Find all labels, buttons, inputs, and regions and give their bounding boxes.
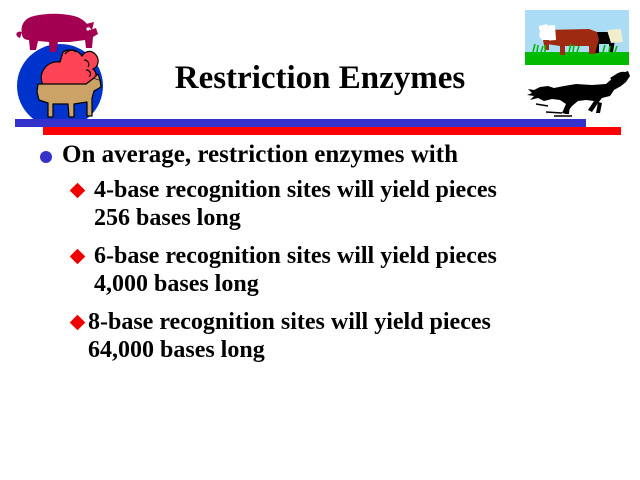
page-title: Restriction Enzymes	[130, 60, 510, 96]
bullet-text-line2: 64,000 bases long	[88, 336, 640, 364]
presentation-slide: Restriction Enzymes	[0, 0, 640, 480]
bullet-text-line1: 6-base recognition sites will yield piec…	[94, 242, 640, 270]
diamond-bullet-icon	[70, 315, 86, 331]
title-block: Restriction Enzymes	[130, 60, 510, 96]
bullet-text: On average, restriction enzymes with	[62, 141, 458, 168]
list-item: 6-base recognition sites will yield piec…	[0, 242, 640, 298]
list-item: 4-base recognition sites will yield piec…	[0, 176, 640, 232]
bullet-text-line2: 256 bases long	[94, 204, 640, 232]
divider-bar-red	[43, 127, 621, 135]
disc-bullet-icon	[40, 151, 52, 163]
slide-body: On average, restriction enzymes with 4-b…	[0, 140, 640, 374]
bullet-text-line1: 4-base recognition sites will yield piec…	[94, 176, 640, 204]
diamond-bullet-icon	[70, 183, 86, 199]
divider-bar-blue	[15, 119, 586, 127]
bullet-text-line1: 8-base recognition sites will yield piec…	[88, 308, 640, 336]
cattle-pasture-image	[525, 10, 629, 65]
galloping-horse-icon	[522, 68, 634, 123]
list-item: On average, restriction enzymes with	[0, 140, 640, 170]
diamond-bullet-icon	[70, 249, 86, 265]
bullet-text-line2: 4,000 bases long	[94, 270, 640, 298]
list-item: 8-base recognition sites will yield piec…	[0, 308, 640, 364]
livestock-logo-icon	[8, 4, 113, 129]
